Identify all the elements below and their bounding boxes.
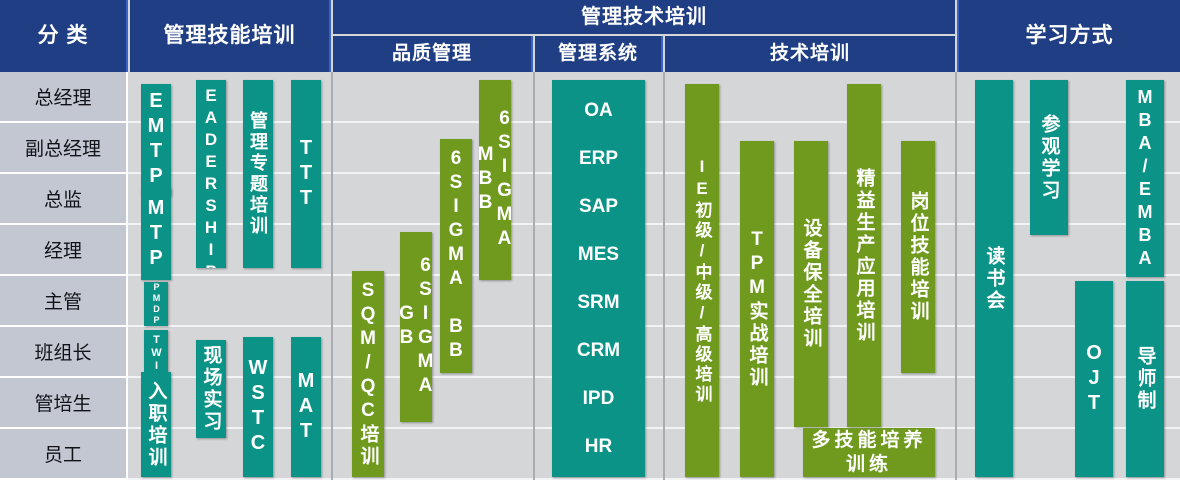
system-item-crm: CRM (577, 341, 620, 360)
row-band (128, 327, 1180, 378)
row-label-2: 副总经理 (0, 123, 128, 174)
system-item-erp: ERP (579, 149, 618, 168)
bar-6sigma-bb[interactable]: 6SIGMA BB (440, 139, 472, 373)
bar-leadership[interactable]: LEADERSHIP (196, 80, 226, 268)
header-category: 分 类 (0, 0, 128, 72)
bar-ttt[interactable]: TTT (291, 80, 321, 268)
header-mgmt-tech: 管理技术培训 (333, 0, 955, 34)
bar-wstc[interactable]: WSTC (243, 337, 273, 477)
bar-mba-emba[interactable]: MBA/EMBA (1126, 80, 1164, 277)
column-separator (533, 72, 535, 480)
row-band (128, 225, 1180, 276)
bar-reading-club[interactable]: 读书会 (975, 80, 1013, 477)
row-label-1: 总经理 (0, 72, 128, 123)
bar-visit-study[interactable]: 参观学习 (1030, 80, 1068, 235)
header-learning: 学习方式 (957, 0, 1180, 72)
system-item-ipd: IPD (583, 389, 615, 408)
bar-ojt[interactable]: OJT (1075, 281, 1113, 477)
bar-mentorship[interactable]: 导师制 (1126, 281, 1164, 477)
row-label-8: 员工 (0, 429, 128, 480)
header-quality: 品质管理 (333, 36, 533, 72)
bar-onboarding-training[interactable]: 入职培训 (141, 372, 171, 477)
bar-equipment-maintenance-training[interactable]: 设备保全培训 (794, 141, 828, 427)
row-band (128, 123, 1180, 174)
column-separator (955, 72, 957, 480)
row-label-6: 班组长 (0, 327, 128, 378)
row-band (128, 378, 1180, 429)
system-item-sap: SAP (579, 197, 618, 216)
training-matrix: 分 类 管理技能培训 管理技术培训 品质管理 管理系统 技术培训 学习方式 总经… (0, 0, 1180, 480)
row-band (128, 429, 1180, 480)
system-item-mes: MES (578, 245, 619, 264)
bar-6sigma-gb[interactable]: 6SIGMA GB (400, 232, 432, 422)
bar-twi[interactable]: TWI (144, 330, 168, 376)
row-label-4: 经理 (0, 225, 128, 276)
system-item-hr: HR (585, 437, 612, 456)
bar-sqm-qc-training[interactable]: SQM/QC培训 (352, 271, 384, 477)
row-label-3: 总监 (0, 174, 128, 225)
bar-mtp[interactable]: MTP (141, 188, 171, 280)
row-label-5: 主管 (0, 276, 128, 327)
bar-onsite-practice[interactable]: 现场实习 (196, 340, 226, 438)
bar-ie-training[interactable]: IE初级/中级/高级培训 (685, 84, 719, 477)
column-separator (663, 72, 665, 480)
system-item-oa: OA (584, 101, 613, 120)
bar-mat[interactable]: MAT (291, 337, 321, 477)
row-band (128, 72, 1180, 123)
row-label-7: 管培生 (0, 378, 128, 429)
row-band (128, 174, 1180, 225)
bar-management-systems[interactable]: OA ERP SAP MES SRM CRM IPD HR (552, 80, 645, 477)
bar-tpm-practice-training[interactable]: TPM实战培训 (740, 141, 774, 477)
bar-emtp[interactable]: EMTP (141, 84, 171, 196)
multi-skill-label: 多技能培养训练 (803, 429, 935, 477)
bar-job-skill-training[interactable]: 岗位技能培训 (901, 141, 935, 373)
row-band (128, 276, 1180, 327)
system-item-srm: SRM (577, 293, 619, 312)
header-tech: 技术培训 (665, 36, 955, 72)
header-system: 管理系统 (535, 36, 663, 72)
bar-lean-production-training[interactable]: 精益生产应用培训 (847, 84, 881, 427)
header-mgmt-skill: 管理技能培训 (130, 0, 331, 72)
bar-6sigma-mbb[interactable]: 6SIGMA MBB (479, 80, 511, 280)
bar-mgmt-topic-training[interactable]: 管理专题培训 (243, 80, 273, 268)
bar-pmdp[interactable]: PMDP (144, 282, 168, 326)
bar-multi-skill-training[interactable]: 多技能培养训练 (803, 428, 935, 477)
column-separator (331, 72, 333, 480)
